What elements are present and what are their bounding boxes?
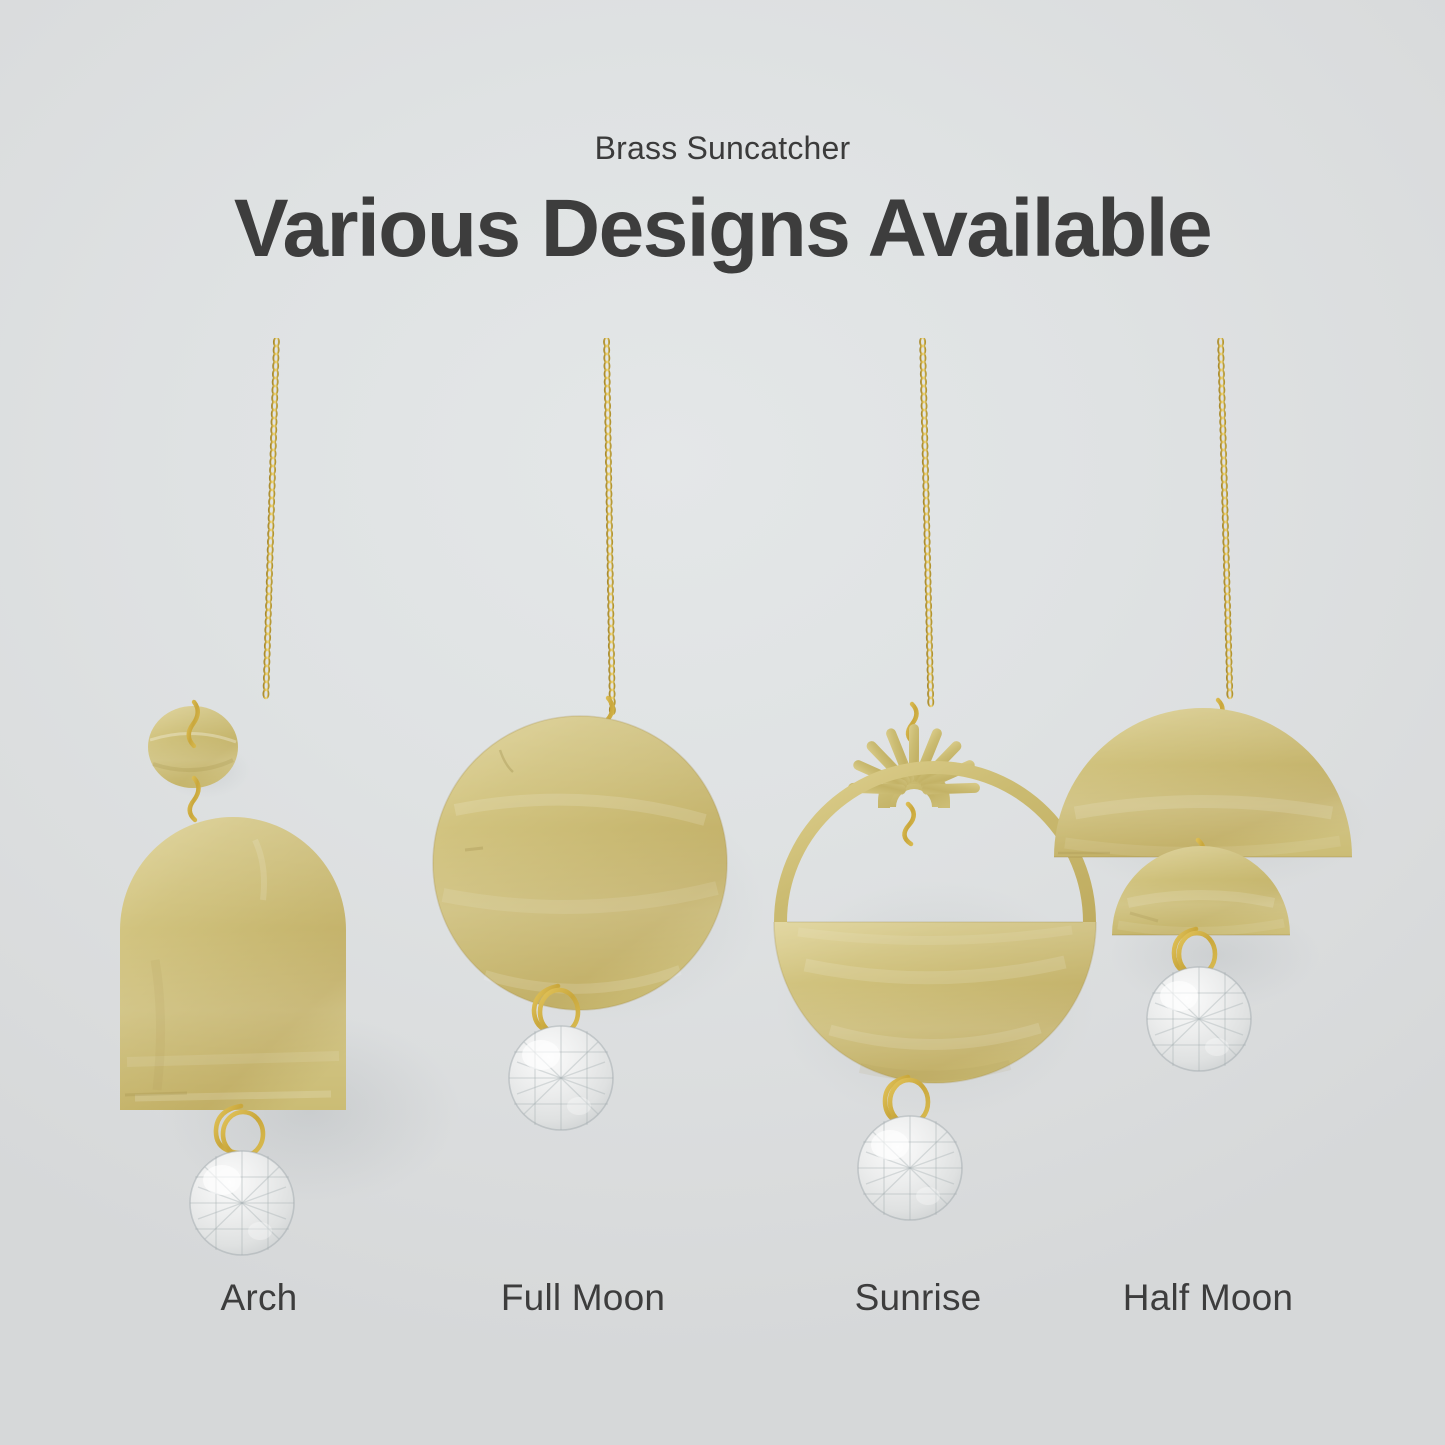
hanging-chain-half-moon — [1216, 338, 1235, 703]
hanging-chain-sunrise — [918, 338, 935, 710]
design-label-full-moon: Full Moon — [501, 1277, 665, 1319]
crystal-ball — [1147, 967, 1251, 1071]
design-label-arch: Arch — [221, 1277, 298, 1319]
hanging-chain-full-moon — [602, 338, 617, 718]
product-photo-canvas: Brass Suncatcher Various Designs Availab… — [0, 0, 1445, 1445]
design-label-half-moon: Half Moon — [1123, 1277, 1293, 1319]
brass-arch-plate — [120, 817, 346, 1110]
suncatcher-half-moon[interactable] — [1040, 695, 1370, 1125]
brass-full-circle — [433, 716, 727, 1010]
eyebrow-text: Brass Suncatcher — [0, 130, 1445, 167]
design-label-sunrise: Sunrise — [855, 1277, 982, 1319]
page-title: Various Designs Available — [0, 182, 1445, 276]
brass-semicircle-large — [1054, 708, 1352, 857]
suncatcher-full-moon[interactable] — [425, 690, 765, 1140]
connector-wire-middle — [904, 804, 913, 844]
crystal-ball — [509, 1026, 613, 1130]
crystal-ball — [858, 1116, 962, 1220]
crystal-ball — [190, 1151, 294, 1255]
suncatcher-arch[interactable] — [95, 690, 465, 1250]
hanging-chain-arch — [261, 338, 281, 700]
